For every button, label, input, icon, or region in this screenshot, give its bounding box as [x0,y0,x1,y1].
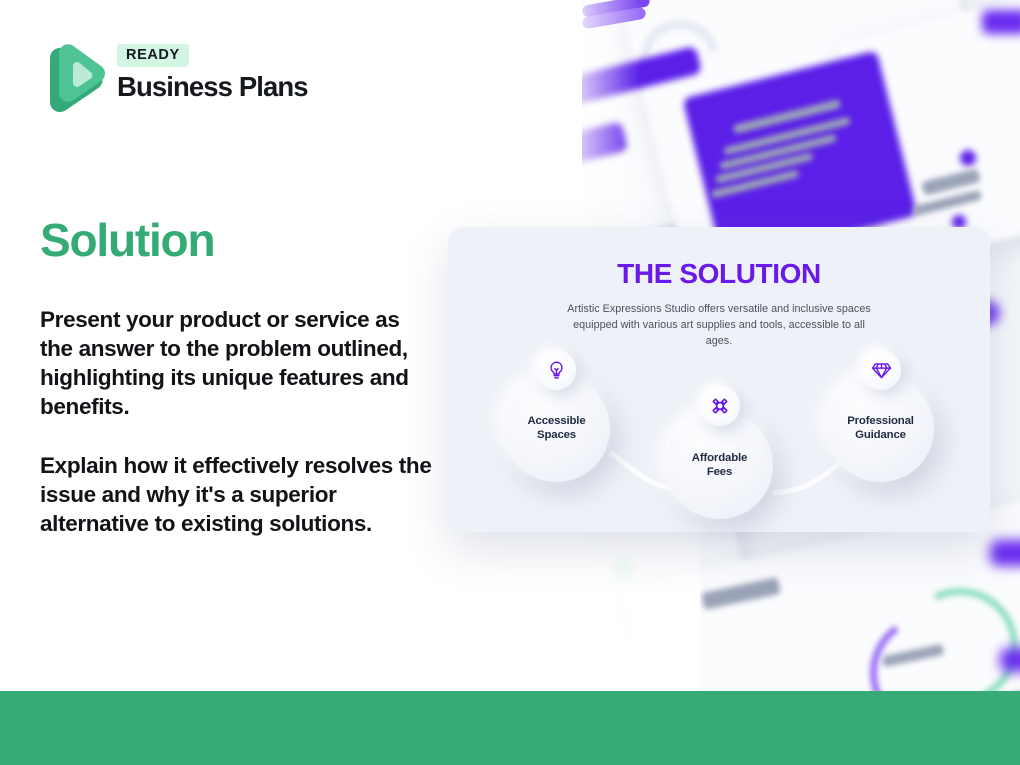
left-content-panel: READY Business Plans Solution Present yo… [0,0,470,691]
body-paragraph-1: Present your product or service as the a… [40,305,432,421]
bg-purple-dot [960,150,976,166]
page-title: Solution [40,215,214,266]
feature-circle[interactable]: ProfessionalGuidance [827,375,934,482]
play-triangle-logo-icon [40,38,106,118]
feature-label: AffordableFees [692,452,747,480]
brand-logo: READY Business Plans [40,38,308,118]
feature-label: ProfessionalGuidance [847,415,914,443]
bg-purple-accent [1000,648,1020,672]
brand-text-block: READY Business Plans [117,38,308,102]
bg-purple-accent [982,10,1020,34]
bg-green-dot [612,560,634,582]
feature-circle[interactable]: AffordableFees [666,412,773,519]
feature-label: AccessibleSpaces [527,415,585,443]
brand-name: Business Plans [117,72,308,102]
footer-bar [0,691,1020,765]
lifebuoy-icon [700,386,740,426]
feature-circle[interactable]: AccessibleSpaces [503,375,610,482]
lightbulb-icon [536,350,576,390]
bg-purple-accent [990,540,1020,566]
diamond-icon [861,350,901,390]
ready-badge: READY [117,44,189,67]
body-paragraph-2: Explain how it effectively resolves the … [40,451,432,538]
body-copy: Present your product or service as the a… [40,305,432,538]
